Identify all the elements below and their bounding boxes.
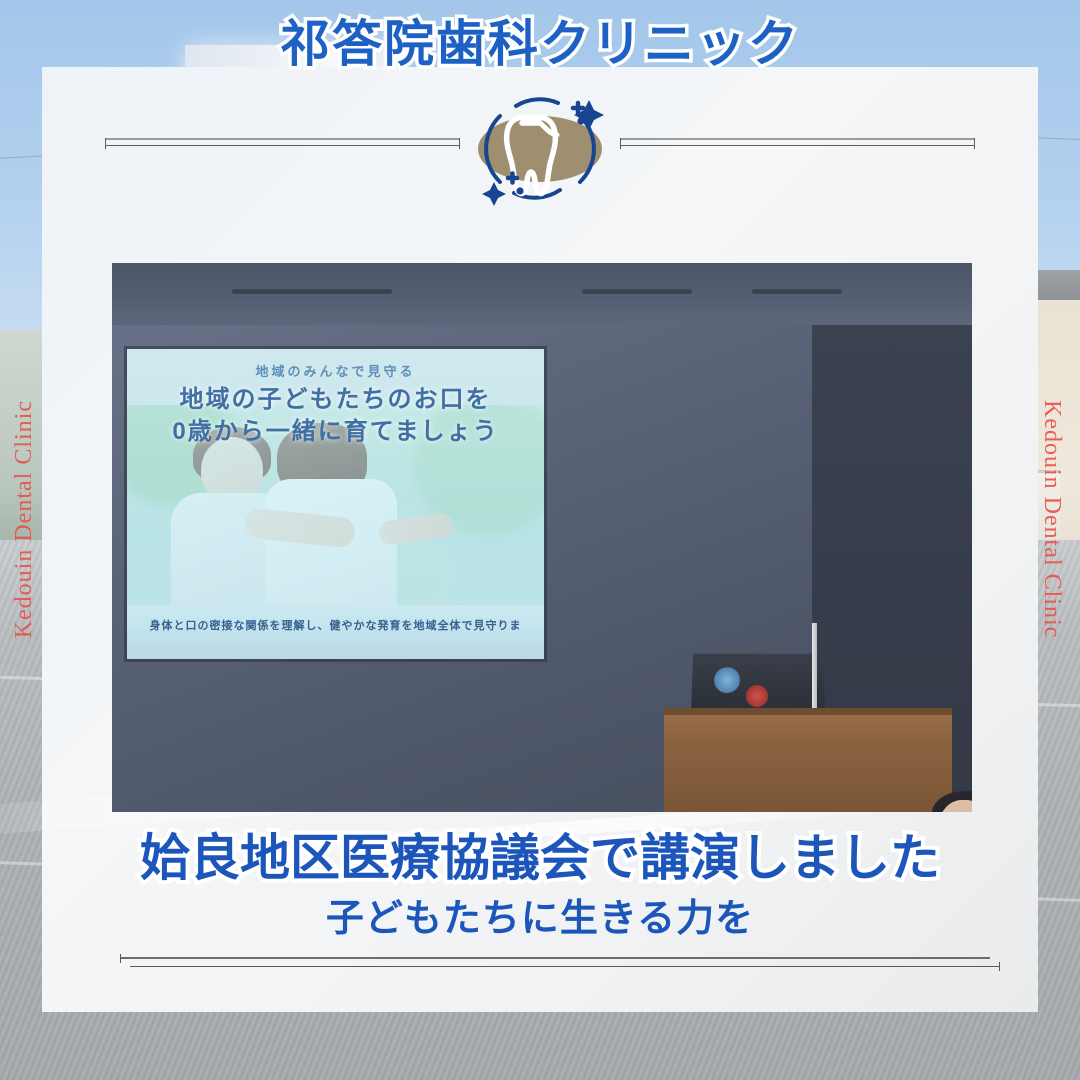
divider-left <box>105 138 460 150</box>
projection-screen: 地域のみんなで見守る 地域の子どもたちのお口を 0歳から一緒に育てましょう 身体… <box>127 349 544 659</box>
slide-line-1: 地域の子どもたちのお口を <box>127 379 544 414</box>
caption-main: 姶良地区医療協議会で講演しました <box>0 818 1080 890</box>
logo-row <box>42 88 1038 208</box>
watermark-right: Kedouin Dental Clinic <box>1038 400 1065 638</box>
poster-canvas: 祁答院歯科 クリニック 祁答院歯科クリニック <box>0 0 1080 1080</box>
caption-sub: 子どもたちに生きる力を <box>0 887 1080 942</box>
divider-bottom <box>120 957 1000 971</box>
podium <box>664 708 952 812</box>
slide-eyebrow: 地域のみんなで見守る <box>127 361 544 380</box>
watermark-left: Kedouin Dental Clinic <box>11 400 38 638</box>
hall-ceiling <box>112 263 972 325</box>
page-title: 祁答院歯科クリニック <box>0 4 1080 76</box>
laptop <box>691 654 825 716</box>
tooth-icon <box>454 90 626 206</box>
slide-footer-text: 身体と口の密接な関係を理解し、健やかな発育を地域全体で見守りま <box>127 617 544 633</box>
slide-line-2: 0歳から一緒に育てましょう <box>127 411 544 446</box>
tooth-logo <box>454 90 626 206</box>
lecture-photo: 地域のみんなで見守る 地域の子どもたちのお口を 0歳から一緒に育てましょう 身体… <box>112 263 972 812</box>
divider-right <box>620 138 975 150</box>
microphone-stand <box>812 623 817 719</box>
